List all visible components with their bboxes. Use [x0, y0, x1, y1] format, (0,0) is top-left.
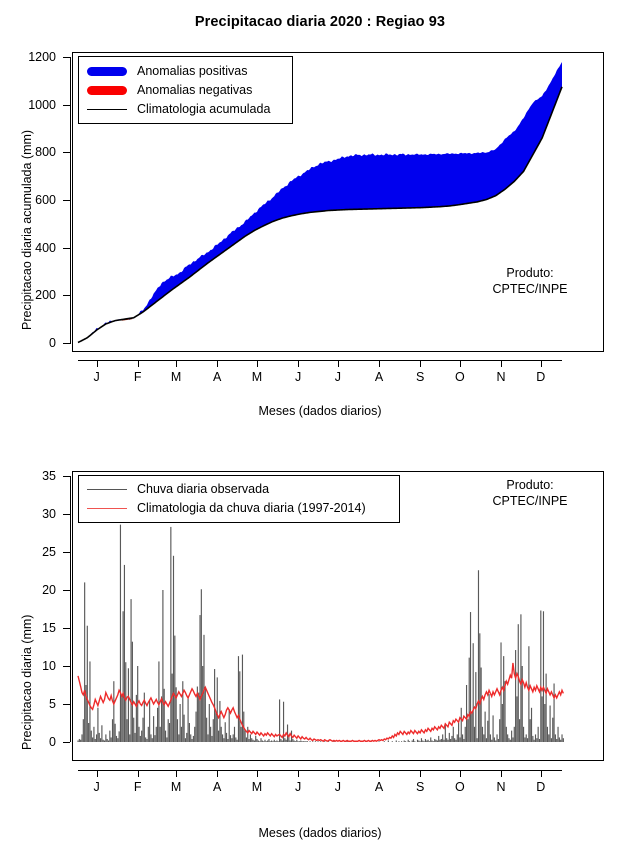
daily-rain-bar [274, 740, 275, 742]
daily-rain-bar [193, 736, 194, 742]
daily-rain-bar [307, 741, 308, 742]
daily-rain-bar [211, 736, 212, 742]
x-tickmark-J [338, 360, 339, 367]
daily-rain-bar [405, 741, 406, 742]
daily-rain-bar [555, 734, 556, 742]
daily-rain-bar [424, 741, 425, 742]
daily-rain-bar [482, 727, 483, 742]
x-tickmark-J [298, 360, 299, 367]
daily-rain-bar [87, 626, 88, 742]
legend-label-climatologia-chuva-diaria: Climatologia da chuva diaria (1997-2014) [137, 501, 366, 515]
daily-rain-bar [272, 741, 273, 742]
daily-rain-bar [271, 740, 272, 742]
daily-rain-bar [115, 724, 116, 742]
x-tickmark-M [176, 770, 177, 777]
daily-rain-bar [474, 727, 475, 742]
daily-rain-bar [462, 734, 463, 742]
daily-rain-bar [518, 624, 519, 742]
daily-rain-bar [81, 734, 82, 742]
x-tickmark-J [298, 770, 299, 777]
daily-rain-bar [483, 734, 484, 742]
daily-rain-bar [498, 739, 499, 742]
x-ticklabel-M: M [164, 370, 188, 384]
x-ticklabel-J: J [85, 370, 109, 384]
daily-rain-bar [112, 719, 113, 742]
daily-rain-bar [295, 741, 296, 742]
daily-rain-bar [527, 738, 528, 742]
daily-rain-bar [530, 719, 531, 742]
daily-rain-bar [384, 741, 385, 742]
bottom-produto-annotation: Produto: CPTEC/INPE [470, 478, 590, 509]
daily-rain-bar [142, 718, 143, 742]
x-ticklabel-S: S [408, 780, 432, 794]
daily-rain-bar [451, 736, 452, 742]
daily-rain-bar [134, 733, 135, 742]
daily-rain-bar [258, 740, 259, 742]
daily-rain-bar [251, 738, 252, 742]
daily-rain-bar [417, 740, 418, 742]
daily-rain-bar [206, 718, 207, 742]
daily-rain-bar [117, 738, 118, 742]
daily-rain-bar [275, 741, 276, 742]
daily-rain-bar [469, 658, 470, 742]
daily-rain-bar [181, 727, 182, 742]
legend-label-anomalias-negativas: Anomalias negativas [137, 83, 252, 97]
daily-rain-bar [127, 719, 128, 742]
daily-rain-bar [398, 741, 399, 742]
daily-rain-bar [426, 740, 427, 742]
legend-label-chuva-diaria-observada: Chuva diaria observada [137, 482, 269, 496]
daily-rain-bar [177, 719, 178, 742]
daily-rain-bar [209, 704, 210, 742]
daily-rain-bar [315, 741, 316, 742]
daily-rain-bar [191, 739, 192, 742]
daily-rain-bar [132, 642, 133, 742]
daily-rain-bar [226, 733, 227, 742]
daily-rain-bar [478, 570, 479, 742]
daily-rain-bar [535, 734, 536, 742]
daily-rain-bar [242, 655, 243, 742]
x-ticklabel-A: A [367, 370, 391, 384]
legend-item-anomalias-negativas: Anomalias negativas [87, 81, 252, 99]
x-ticklabel-J: J [286, 780, 310, 794]
x-ticklabel-D: D [529, 370, 553, 384]
daily-rain-bar [486, 738, 487, 742]
daily-rain-bar [449, 733, 450, 742]
daily-rain-bar [255, 736, 256, 742]
daily-rain-bar [552, 718, 553, 742]
daily-rain-bar [435, 740, 436, 742]
daily-rain-bar [463, 739, 464, 742]
daily-rain-bar [136, 695, 137, 742]
daily-rain-bar [245, 731, 246, 742]
daily-rain-bar [450, 739, 451, 742]
daily-rain-bar [235, 737, 236, 742]
bottom-x-axis-line [78, 770, 562, 771]
daily-rain-bar [99, 733, 100, 742]
daily-rain-bar [446, 738, 447, 742]
x-tickmark-O [460, 770, 461, 777]
daily-rain-bar [120, 525, 121, 742]
daily-rain-bar [454, 738, 455, 742]
daily-rain-bar [145, 737, 146, 742]
climatology-rain-line-swatch-icon [87, 508, 127, 509]
x-tickmark-D [541, 770, 542, 777]
top-produto-line2: CPTEC/INPE [470, 282, 590, 298]
daily-rain-bar [467, 719, 468, 742]
daily-rain-bar [495, 740, 496, 742]
daily-rain-bar [290, 740, 291, 742]
daily-rain-bar [93, 727, 94, 742]
daily-rain-bar [128, 668, 129, 742]
daily-rain-bar [532, 736, 533, 742]
negative-anomaly-swatch-icon [87, 86, 127, 95]
daily-rain-bar [298, 741, 299, 742]
daily-rain-bar [267, 740, 268, 742]
daily-rain-bar [217, 677, 218, 742]
daily-rain-bar [310, 741, 311, 742]
daily-rain-bar [553, 683, 554, 742]
bottom-x-axis-label: Meses (dados diarios) [0, 826, 640, 840]
daily-rain-bar [496, 734, 497, 742]
x-tickmark-N [501, 360, 502, 367]
daily-rain-bar [401, 741, 402, 742]
daily-rain-bar [278, 741, 279, 742]
daily-rain-bar [510, 740, 511, 742]
daily-rain-bar [95, 739, 96, 742]
daily-rain-bar [227, 739, 228, 742]
x-tickmark-A [217, 360, 218, 367]
daily-rain-bar [512, 737, 513, 742]
daily-rain-bar [79, 739, 80, 742]
daily-rain-bar [201, 589, 202, 742]
x-ticklabel-J: J [85, 780, 109, 794]
daily-rain-bar [430, 737, 431, 742]
daily-rain-bar [473, 643, 474, 742]
daily-rain-bar [180, 704, 181, 742]
daily-rain-bar [80, 740, 81, 742]
daily-rain-bar [556, 739, 557, 742]
top-produto-line1: Produto: [470, 266, 590, 282]
daily-rain-bar [218, 731, 219, 742]
daily-rain-bar [160, 727, 161, 742]
climatology-line-swatch-icon [87, 109, 127, 110]
daily-rain-bar [514, 727, 515, 742]
daily-rain-bar [164, 689, 165, 742]
x-tickmark-F [138, 770, 139, 777]
x-ticklabel-S: S [408, 370, 432, 384]
x-ticklabel-A: A [367, 780, 391, 794]
daily-rain-bar [153, 716, 154, 742]
daily-rain-bar [263, 741, 264, 742]
daily-rain-bar [429, 741, 430, 742]
daily-rain-bar [260, 738, 261, 742]
daily-rain-bar [520, 614, 521, 742]
daily-rain-bar [479, 633, 480, 742]
daily-rain-bar [557, 727, 558, 742]
daily-rain-bar [133, 718, 134, 742]
daily-rain-bar [506, 727, 507, 742]
daily-rain-bar [487, 721, 488, 742]
daily-rain-bar [526, 734, 527, 742]
daily-rain-bar [414, 741, 415, 742]
daily-rain-bar [105, 734, 106, 742]
daily-rain-bar [173, 556, 174, 742]
observed-rain-line-swatch-icon [87, 489, 127, 490]
daily-rain-bar [262, 740, 263, 742]
daily-rain-bar [215, 712, 216, 742]
daily-rain-bar [286, 740, 287, 742]
daily-rain-bar [178, 734, 179, 742]
daily-rain-bar [230, 735, 231, 742]
x-tickmark-A [379, 770, 380, 777]
daily-rain-bar [284, 738, 285, 742]
legend-item-anomalias-positivas: Anomalias positivas [87, 62, 247, 80]
daily-rain-bar [89, 661, 90, 742]
top-produto-annotation: Produto: CPTEC/INPE [470, 266, 590, 297]
positive-anomaly-swatch-icon [87, 67, 127, 76]
daily-rain-bar [188, 696, 189, 742]
daily-rain-bar [485, 712, 486, 742]
daily-rain-bar [92, 737, 93, 742]
daily-rain-bar [494, 737, 495, 742]
daily-rain-bar [453, 727, 454, 742]
daily-rain-bar [282, 740, 283, 742]
daily-rain-bar [408, 740, 409, 742]
daily-rain-bar [270, 741, 271, 742]
x-tickmark-N [501, 770, 502, 777]
x-tickmark-O [460, 360, 461, 367]
x-ticklabel-A: A [205, 780, 229, 794]
daily-rain-bar [130, 599, 131, 742]
daily-rain-bar [434, 739, 435, 742]
x-tickmark-F [138, 360, 139, 367]
daily-rain-bar [421, 738, 422, 742]
daily-rain-bar [259, 741, 260, 742]
x-ticklabel-M: M [245, 780, 269, 794]
daily-rain-bar [101, 725, 102, 742]
daily-rain-bar [503, 656, 504, 742]
daily-rain-bar [158, 661, 159, 742]
daily-rain-bar [239, 671, 240, 742]
x-tickmark-J [97, 360, 98, 367]
daily-rain-bar [194, 727, 195, 742]
daily-rain-bar [388, 740, 389, 742]
daily-rain-bar [320, 741, 321, 742]
x-ticklabel-D: D [529, 780, 553, 794]
daily-rain-bar [100, 738, 101, 742]
x-ticklabel-A: A [205, 370, 229, 384]
daily-rain-bar [161, 696, 162, 742]
daily-rain-bar [471, 712, 472, 742]
daily-rain-bar [447, 740, 448, 742]
daily-rain-bar [392, 741, 393, 742]
daily-rain-bar [306, 741, 307, 742]
daily-rain-bar [432, 740, 433, 742]
daily-rain-bar [168, 719, 169, 742]
daily-rain-bar [195, 712, 196, 742]
daily-rain-bar [489, 694, 490, 742]
daily-rain-bar [559, 737, 560, 742]
x-tickmark-M [257, 360, 258, 367]
daily-rain-bar [490, 734, 491, 742]
daily-rain-bar [210, 727, 211, 742]
daily-rain-bar [523, 727, 524, 742]
daily-rain-bar [113, 681, 114, 742]
daily-rain-bar [438, 736, 439, 742]
daily-rain-bar [466, 685, 467, 742]
daily-rain-bar [481, 668, 482, 742]
daily-rain-bar [121, 696, 122, 742]
daily-rain-bar [522, 666, 523, 742]
daily-rain-bar [538, 727, 539, 742]
daily-precipitation-panel: Precipitacao diaria (mm) 35 30 25 20 15 … [0, 430, 640, 850]
daily-rain-bar [219, 701, 220, 742]
daily-rain-bar [189, 723, 190, 742]
daily-rain-bar [97, 708, 98, 742]
bottom-produto-line1: Produto: [470, 478, 590, 494]
daily-rain-bar [324, 741, 325, 742]
x-ticklabel-O: O [448, 780, 472, 794]
daily-rain-bar [104, 740, 105, 742]
daily-rain-bar [157, 708, 158, 742]
x-ticklabel-F: F [126, 780, 150, 794]
daily-rain-bar [231, 738, 232, 742]
x-ticklabel-M: M [164, 780, 188, 794]
daily-rain-bar [404, 740, 405, 742]
daily-rain-bar [303, 741, 304, 742]
daily-rain-bar [461, 708, 462, 742]
x-tickmark-S [420, 770, 421, 777]
daily-rain-bar [146, 739, 147, 742]
legend-item-climatologia-acumulada: Climatologia acumulada [87, 100, 270, 118]
daily-rain-bar [542, 696, 543, 742]
legend-item-chuva-diaria-observada: Chuva diaria observada [87, 480, 269, 498]
x-tickmark-S [420, 360, 421, 367]
daily-rain-bar [77, 740, 78, 742]
daily-rain-bar [455, 740, 456, 742]
daily-rain-bar [502, 704, 503, 742]
daily-rain-bar [536, 738, 537, 742]
daily-rain-bar [425, 739, 426, 742]
daily-rain-bar [312, 741, 313, 742]
daily-rain-bar [294, 740, 295, 742]
daily-rain-bar [249, 739, 250, 742]
daily-rain-bar [165, 731, 166, 742]
daily-rain-bar [477, 738, 478, 742]
daily-rain-bar [413, 739, 414, 742]
daily-rain-bar [560, 740, 561, 742]
x-tickmark-A [217, 770, 218, 777]
daily-rain-bar [302, 741, 303, 742]
daily-rain-bar [233, 734, 234, 742]
daily-rain-bar [234, 727, 235, 742]
daily-rain-bar [561, 734, 562, 742]
daily-rain-bar [205, 687, 206, 742]
daily-rain-bar [169, 723, 170, 742]
accumulated-precipitation-panel: Precipitacao diaria 2020 : Regiao 93 Pre… [0, 0, 640, 430]
daily-rain-bar [225, 722, 226, 742]
daily-rain-bar [299, 741, 300, 742]
daily-rain-bar [254, 740, 255, 742]
daily-rain-bar [207, 734, 208, 742]
daily-rain-bar [442, 734, 443, 742]
x-tickmark-A [379, 360, 380, 367]
daily-rain-bar [152, 738, 153, 742]
daily-rain-bar [563, 738, 564, 742]
daily-rain-bar [412, 740, 413, 742]
daily-rain-bar [184, 715, 185, 742]
daily-rain-bar [149, 700, 150, 742]
x-tickmark-D [541, 360, 542, 367]
daily-rain-bar [304, 741, 305, 742]
bottom-produto-line2: CPTEC/INPE [470, 494, 590, 510]
bottom-legend: Chuva diaria observada Climatologia da c… [78, 475, 400, 523]
daily-rain-bar [524, 737, 525, 742]
daily-rain-bar [190, 734, 191, 742]
daily-rain-bar [493, 715, 494, 742]
daily-rain-bar [441, 739, 442, 742]
daily-rain-bar [547, 727, 548, 742]
daily-rain-bar [223, 738, 224, 742]
top-x-axis-line [78, 360, 562, 361]
x-ticklabel-N: N [489, 370, 513, 384]
daily-rain-bar [247, 727, 248, 742]
daily-rain-bar [268, 739, 269, 742]
daily-rain-bar [548, 734, 549, 742]
x-ticklabel-J: J [326, 780, 350, 794]
x-tickmark-J [97, 770, 98, 777]
daily-rain-bar [300, 740, 301, 742]
x-ticklabel-J: J [286, 370, 310, 384]
daily-rain-bar [109, 731, 110, 742]
daily-rain-bar [246, 737, 247, 742]
daily-rain-bar [198, 693, 199, 742]
daily-rain-bar [252, 740, 253, 742]
daily-rain-bar [125, 662, 126, 742]
daily-rain-bar [140, 736, 141, 742]
daily-rain-bar [539, 739, 540, 742]
daily-rain-bar [470, 612, 471, 742]
daily-rain-bar [119, 731, 120, 742]
daily-rain-bar [256, 739, 257, 742]
daily-rain-bar [465, 727, 466, 742]
daily-rain-bar [280, 739, 281, 742]
daily-rain-bar [459, 737, 460, 742]
daily-rain-bar [185, 738, 186, 742]
daily-rain-bar [519, 719, 520, 742]
daily-rain-bar [91, 731, 92, 742]
daily-rain-bar [420, 741, 421, 742]
daily-rain-bar [409, 741, 410, 742]
daily-rain-bar [166, 737, 167, 742]
climatology-daily-rain-line [78, 663, 563, 741]
daily-rain-bar [108, 740, 109, 742]
daily-rain-bar [83, 719, 84, 742]
daily-rain-bar [170, 527, 171, 742]
daily-rain-bar [174, 636, 175, 742]
daily-rain-bar [515, 650, 516, 742]
daily-rain-bar [504, 681, 505, 742]
daily-rain-bar [138, 727, 139, 742]
daily-rain-bar [264, 740, 265, 742]
x-ticklabel-O: O [448, 370, 472, 384]
daily-rain-bar [266, 741, 267, 742]
daily-rain-bar [546, 674, 547, 742]
x-ticklabel-M: M [245, 370, 269, 384]
daily-rain-bar [202, 666, 203, 742]
daily-rain-bar [103, 740, 104, 742]
